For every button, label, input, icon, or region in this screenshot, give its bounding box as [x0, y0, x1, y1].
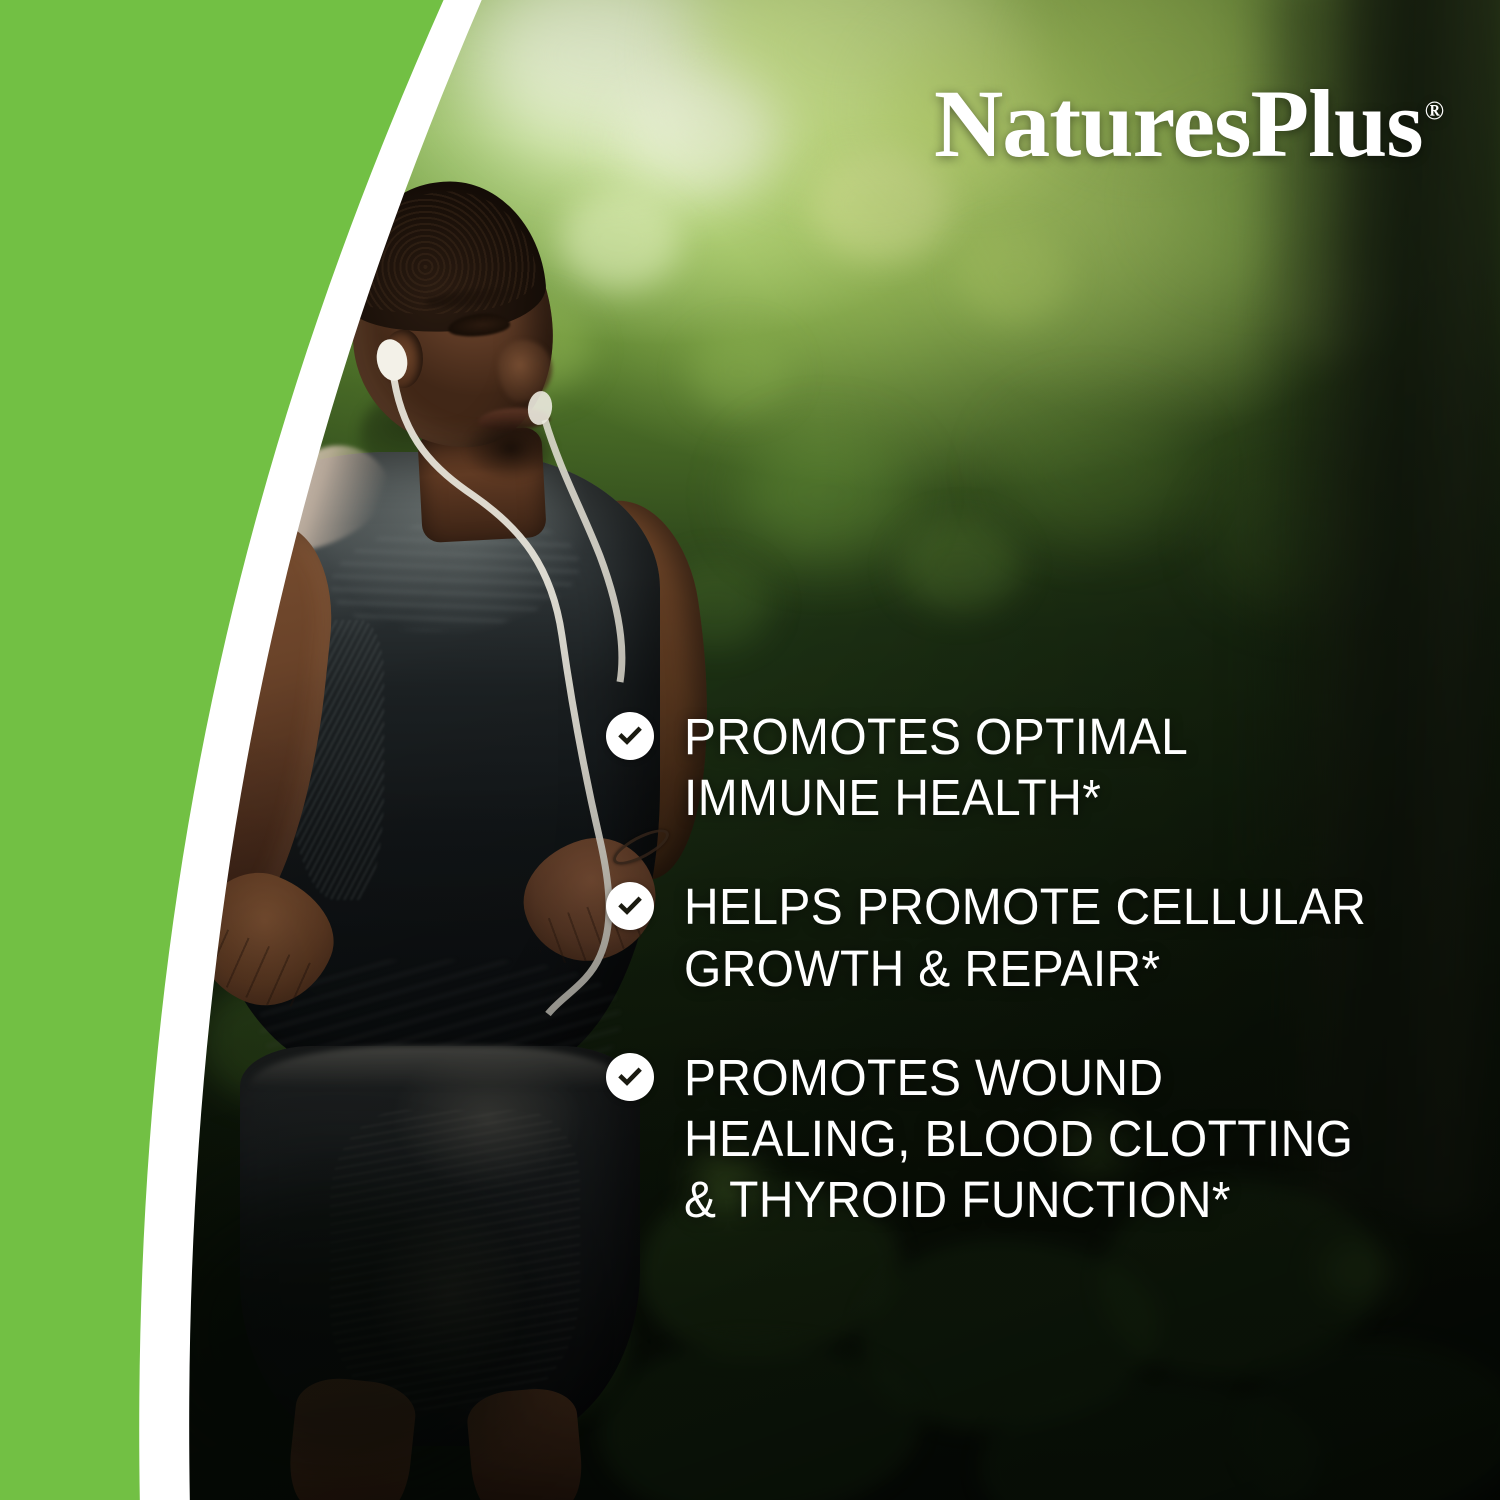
check-circle-icon — [606, 882, 654, 930]
brand-logo-text: NaturesPlus — [934, 70, 1423, 177]
check-circle-icon — [606, 1053, 654, 1101]
benefit-item-wound-healing: PROMOTES WOUND HEALING, BLOOD CLOTTING &… — [606, 1047, 1466, 1231]
check-circle-icon — [606, 712, 654, 760]
benefit-item-cellular-growth: HELPS PROMOTE CELLULAR GROWTH & REPAIR* — [606, 876, 1466, 998]
benefit-text: PROMOTES WOUND HEALING, BLOOD CLOTTING &… — [684, 1047, 1353, 1231]
registered-trademark-icon: ® — [1425, 96, 1444, 125]
product-benefits-banner: NaturesPlus® PROMOTES OPTIMAL IMMUNE HEA… — [0, 0, 1500, 1500]
benefit-text: PROMOTES OPTIMAL IMMUNE HEALTH* — [684, 706, 1188, 828]
benefit-text: HELPS PROMOTE CELLULAR GROWTH & REPAIR* — [684, 876, 1366, 998]
green-curve-panel — [0, 0, 620, 1500]
benefits-list: PROMOTES OPTIMAL IMMUNE HEALTH* HELPS PR… — [606, 706, 1466, 1230]
benefit-item-immune-health: PROMOTES OPTIMAL IMMUNE HEALTH* — [606, 706, 1466, 828]
brand-logo: NaturesPlus® — [934, 76, 1442, 172]
